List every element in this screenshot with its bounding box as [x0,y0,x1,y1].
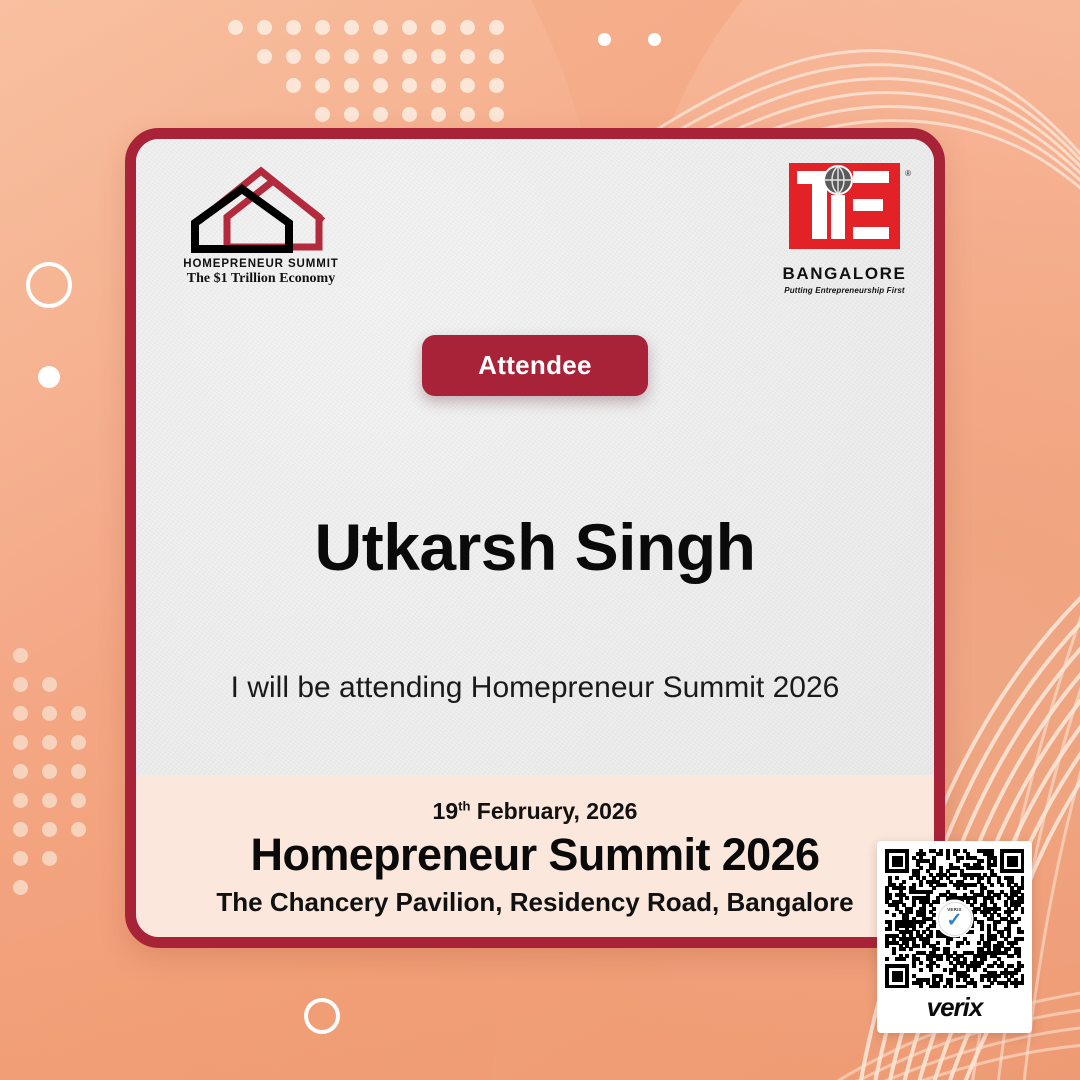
event-date-rest: February, 2026 [470,798,637,824]
decor-dot [460,49,475,64]
decor-dot [257,49,272,64]
decor-dot [42,822,57,837]
card-footer-band: 19th February, 2026 Homepreneur Summit 2… [136,775,934,937]
decor-dot [13,648,28,663]
homepreneur-summit-logo: HOMEPRENEUR SUMMIT The $1 Trillion Econo… [181,161,341,287]
event-date-ordinal: th [458,798,470,813]
trademark-symbol: ® [905,169,911,178]
house-outline-logo-icon [189,161,334,256]
decor-dot [431,20,446,35]
decor-dot [42,764,57,779]
decor-dot [373,49,388,64]
decor-dot [460,20,475,35]
decor-dot [344,107,359,122]
attendee-name: Utkarsh Singh [136,509,934,585]
decor-dot [489,107,504,122]
decor-dot [460,107,475,122]
event-date: 19th February, 2026 [136,798,934,825]
decor-dot [42,851,57,866]
decor-dot [402,49,417,64]
decor-dot [431,78,446,93]
qr-verification-card[interactable]: VERIX ✓ verix [877,841,1032,1033]
decor-dot [286,20,301,35]
role-badge: Attendee [422,335,648,396]
decor-dot [315,20,330,35]
decor-dot [344,78,359,93]
decor-dot [431,49,446,64]
event-venue: The Chancery Pavilion, Residency Road, B… [136,887,934,918]
homepreneur-logo-line1: HOMEPRENEUR SUMMIT [181,258,341,270]
decor-dot [13,706,28,721]
decor-dot [13,822,28,837]
decor-dot [489,49,504,64]
role-badge-wrap: Attendee [136,335,934,396]
decor-dot [228,20,243,35]
qr-code[interactable]: VERIX ✓ [885,849,1024,988]
decor-dot [13,764,28,779]
decor-dot [13,793,28,808]
decor-ring-top-left [26,262,72,308]
decor-dot [257,20,272,35]
decor-dot [402,20,417,35]
decor-dot [286,49,301,64]
tie-chapter-name: BANGALORE [782,264,907,284]
decor-dot [42,677,57,692]
decor-dot [71,764,86,779]
decor-dot [13,677,28,692]
decor-dot [373,78,388,93]
homepreneur-logo-line2: The $1 Trillion Economy [181,271,341,287]
decor-dot [286,78,301,93]
decor-dot [42,706,57,721]
decor-dot [402,107,417,122]
decor-ring-bottom [304,998,340,1034]
check-glyph: ✓ [947,911,963,930]
attendance-statement: I will be attending Homepreneur Summit 2… [136,671,934,705]
decor-dot [315,78,330,93]
decor-dot [71,793,86,808]
tie-tagline: Putting Entrepreneurship First [782,286,907,295]
verix-brand: verix [885,992,1024,1023]
decor-dot [489,78,504,93]
verified-check-icon: VERIX ✓ [938,902,972,936]
decor-dot [71,706,86,721]
decor-dot [460,78,475,93]
decor-disc-top-b [648,33,661,46]
decor-dot [13,735,28,750]
tie-globe-logo-icon: ® [787,161,902,261]
decor-disc-top-left [38,366,60,388]
decor-dot [489,20,504,35]
decor-dot [344,20,359,35]
decor-dot [315,49,330,64]
decor-dot [344,49,359,64]
decor-dot [13,851,28,866]
decor-disc-top-a [598,33,611,46]
decor-dot [42,735,57,750]
decor-dot [431,107,446,122]
decor-dot [373,107,388,122]
decor-dot [13,880,28,895]
decor-dot [71,735,86,750]
decor-dot [315,107,330,122]
decor-dot [373,20,388,35]
decor-dot [402,78,417,93]
decor-dot [71,822,86,837]
decor-dot [42,793,57,808]
event-date-day: 19 [433,798,459,824]
event-title: Homepreneur Summit 2026 [136,829,934,881]
tie-bangalore-logo: ® BANGALORE Putting Entrepreneurship Fir… [782,161,907,295]
certificate-card: 19th February, 2026 Homepreneur Summit 2… [125,128,945,948]
